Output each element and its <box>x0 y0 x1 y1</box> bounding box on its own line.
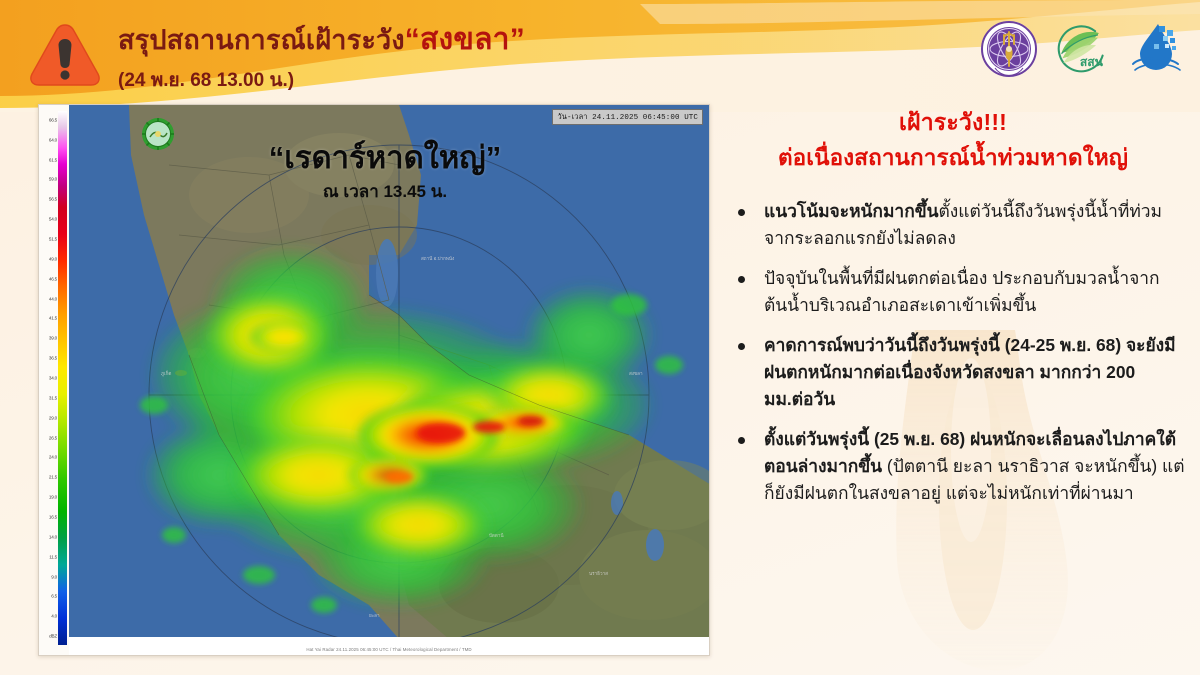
svg-text:ปัตตานี: ปัตตานี <box>489 532 504 538</box>
colorbar-tick: 6.5 <box>51 595 57 600</box>
page-header: สรุปสถานการณ์เฝ้าระวัง“สงขลา” (24 พ.ย. 6… <box>0 0 1200 112</box>
bullet-list: แนวโน้มจะหนักมากขึ้นตั้งแต่วันนี้ถึงวันพ… <box>718 198 1188 507</box>
page-title: สรุปสถานการณ์เฝ้าระวัง“สงขลา” <box>118 22 718 59</box>
svg-text:สงขลา: สงขลา <box>629 371 643 376</box>
colorbar-unit-label: dBZ <box>49 635 57 640</box>
bullet-text: ปัจจุบันในพื้นที่มีฝนตกต่อเนื่อง ประกอบก… <box>764 268 1160 315</box>
colorbar-tick: 46.5 <box>49 277 57 282</box>
colorbar-tick: 16.5 <box>49 516 57 521</box>
colorbar-tick: 36.5 <box>49 357 57 362</box>
colorbar-tick: 39.0 <box>49 337 57 342</box>
colorbar-tick-labels: 66.564.061.559.056.554.051.549.046.544.0… <box>39 105 58 655</box>
colorbar-tick: 41.5 <box>49 317 57 322</box>
colorbar-tick: 61.5 <box>49 158 57 163</box>
colorbar-tick: 34.0 <box>49 377 57 382</box>
colorbar-tick: 26.5 <box>49 436 57 441</box>
bullet-emphasis: คาดการณ์พบว่าวันนี้ถึงวันพรุ่งนี้ (24-25… <box>764 335 1176 409</box>
colorbar-gradient-strip <box>58 111 67 645</box>
colorbar-tick: 24.0 <box>49 456 57 461</box>
slide-root: สรุปสถานการณ์เฝ้าระวัง“สงขลา” (24 พ.ย. 6… <box>0 0 1200 675</box>
radar-map-graphic: สถานี อ.ปากพนัง ภูเก็ต สงขลา ปัตตานี ยะล… <box>69 105 709 637</box>
page-title-prefix: สรุปสถานการณ์เฝ้าระวัง <box>118 25 405 55</box>
svg-text:ภูเก็ต: ภูเก็ต <box>161 369 171 377</box>
colorbar-tick: 14.0 <box>49 536 57 541</box>
colorbar-tick: 4.0 <box>51 615 57 620</box>
colorbar-tick: 31.5 <box>49 397 57 402</box>
hydro-informatics-leaf-logo: สสน <box>1054 20 1112 78</box>
logo-group: สสน <box>980 18 1184 80</box>
radar-source-caption: Hat Yai Radar 24.11.2025 06:45:00 UTC / … <box>69 647 709 652</box>
colorbar-tick: 64.0 <box>49 138 57 143</box>
radar-station-emblem-icon <box>141 117 175 151</box>
page-title-province: “สงขลา” <box>405 23 525 56</box>
colorbar-tick: 9.0 <box>51 575 57 580</box>
page-datetime: (24 พ.ย. 68 13.00 น.) <box>118 65 718 95</box>
colorbar-tick: 44.0 <box>49 297 57 302</box>
svg-text:ยะลา: ยะลา <box>369 613 380 618</box>
radar-panel: 66.564.061.559.056.554.051.549.046.544.0… <box>38 104 710 656</box>
colorbar-tick: 54.0 <box>49 218 57 223</box>
colorbar-tick: 29.0 <box>49 416 57 421</box>
colorbar-tick: 11.5 <box>49 555 57 560</box>
svg-text:นราธิวาส: นราธิวาส <box>589 571 608 576</box>
alert-headline-secondary: ต่อเนื่องสถานการณ์น้ำท่วมหาดใหญ่ <box>718 144 1188 172</box>
radar-colorbar: 66.564.061.559.056.554.051.549.046.544.0… <box>39 105 69 655</box>
royal-seal-logo <box>980 20 1038 78</box>
bullet-item: แนวโน้มจะหนักมากขึ้นตั้งแต่วันนี้ถึงวันพ… <box>718 198 1188 252</box>
colorbar-tick: 59.0 <box>49 178 57 183</box>
colorbar-tick: 49.0 <box>49 258 57 263</box>
colorbar-tick: 21.5 <box>49 476 57 481</box>
colorbar-tick: 51.5 <box>49 238 57 243</box>
leaf-logo-label: สสน <box>1080 55 1104 69</box>
bullet-item: คาดการณ์พบว่าวันนี้ถึงวันพรุ่งนี้ (24-25… <box>718 332 1188 413</box>
warning-triangle-icon <box>28 22 102 88</box>
alert-headline-primary: เฝ้าระวัง!!! <box>718 108 1188 137</box>
bullet-emphasis: แนวโน้มจะหนักมากขึ้น <box>764 201 939 221</box>
colorbar-tick: 56.5 <box>49 198 57 203</box>
radar-image[interactable]: สถานี อ.ปากพนัง ภูเก็ต สงขลา ปัตตานี ยะล… <box>69 105 709 637</box>
svg-text:สถานี อ.ปากพนัง: สถานี อ.ปากพนัง <box>421 255 454 261</box>
summary-text-panel: เฝ้าระวัง!!! ต่อเนื่องสถานการณ์น้ำท่วมหา… <box>718 108 1188 664</box>
colorbar-tick: 66.5 <box>49 119 57 124</box>
radar-timestamp: วัน-เวลา 24.11.2025 06:45:00 UTC <box>552 109 703 125</box>
colorbar-tick: 19.0 <box>49 496 57 501</box>
bullet-item: ตั้งแต่วันพรุ่งนี้ (25 พ.ย. 68) ฝนหนักจะ… <box>718 426 1188 507</box>
bullet-item: ปัจจุบันในพื้นที่มีฝนตกต่อเนื่อง ประกอบก… <box>718 265 1188 319</box>
water-droplet-logo <box>1128 20 1184 78</box>
header-text-block: สรุปสถานการณ์เฝ้าระวัง“สงขลา” (24 พ.ย. 6… <box>118 22 718 95</box>
